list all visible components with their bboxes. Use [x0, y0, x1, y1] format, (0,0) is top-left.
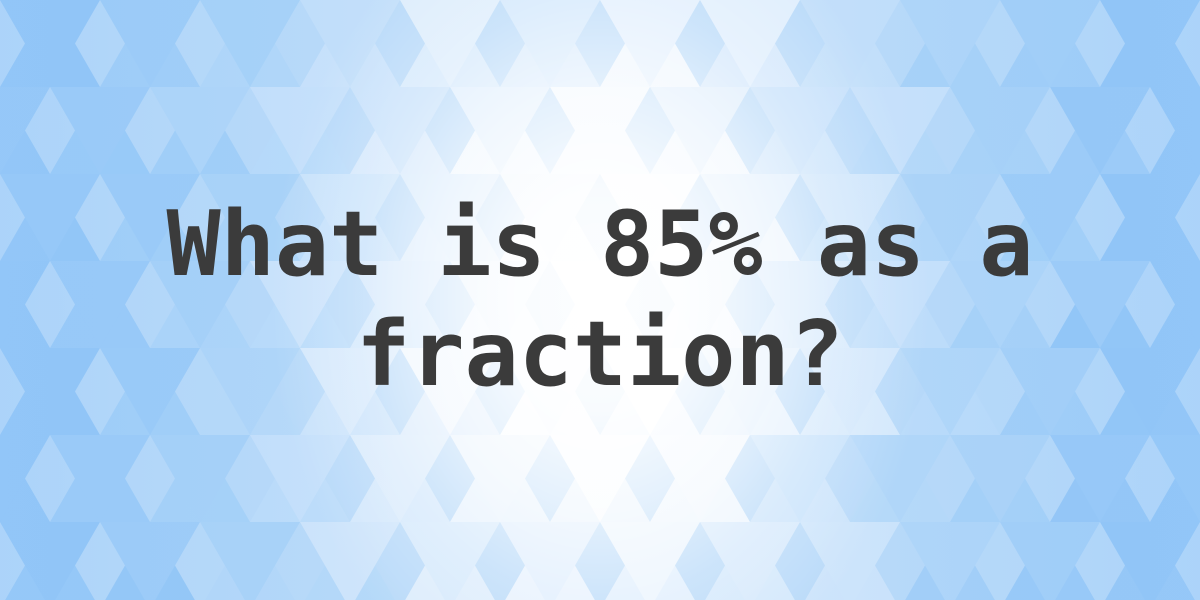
headline-line-2: fraction? — [356, 300, 844, 410]
headline-line-1: What is 85% as a — [167, 190, 1034, 300]
question-card: What is 85% as a fraction? — [0, 0, 1200, 600]
headline: What is 85% as a fraction? — [0, 0, 1200, 600]
